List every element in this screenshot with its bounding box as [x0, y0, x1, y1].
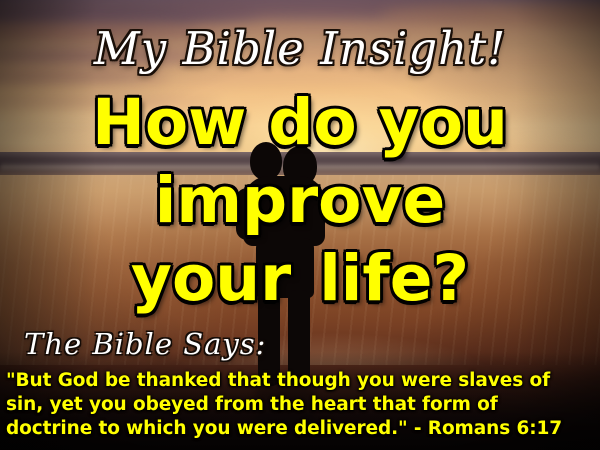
- headline-line-1: How do you: [0, 84, 600, 162]
- bible-says-label: The Bible Says:: [24, 327, 266, 361]
- headline-word-life: life?: [319, 242, 469, 315]
- headline-line-3: yourlife?: [0, 240, 600, 318]
- headline-word-your: your: [131, 242, 291, 315]
- bible-insight-poster: My Bible Insight! How do you improve you…: [0, 0, 600, 450]
- scripture-line-1: "But God be thanked that though you were…: [6, 369, 598, 393]
- headline: How do you improve yourlife?: [0, 84, 600, 318]
- scripture-line-2: sin, yet you obeyed from the heart that …: [6, 393, 598, 417]
- page-title: My Bible Insight!: [0, 22, 600, 75]
- scripture-line-3: doctrine to which you were delivered." -…: [6, 417, 598, 441]
- headline-line-2: improve: [0, 162, 600, 240]
- scripture-quote: "But God be thanked that though you were…: [6, 369, 598, 441]
